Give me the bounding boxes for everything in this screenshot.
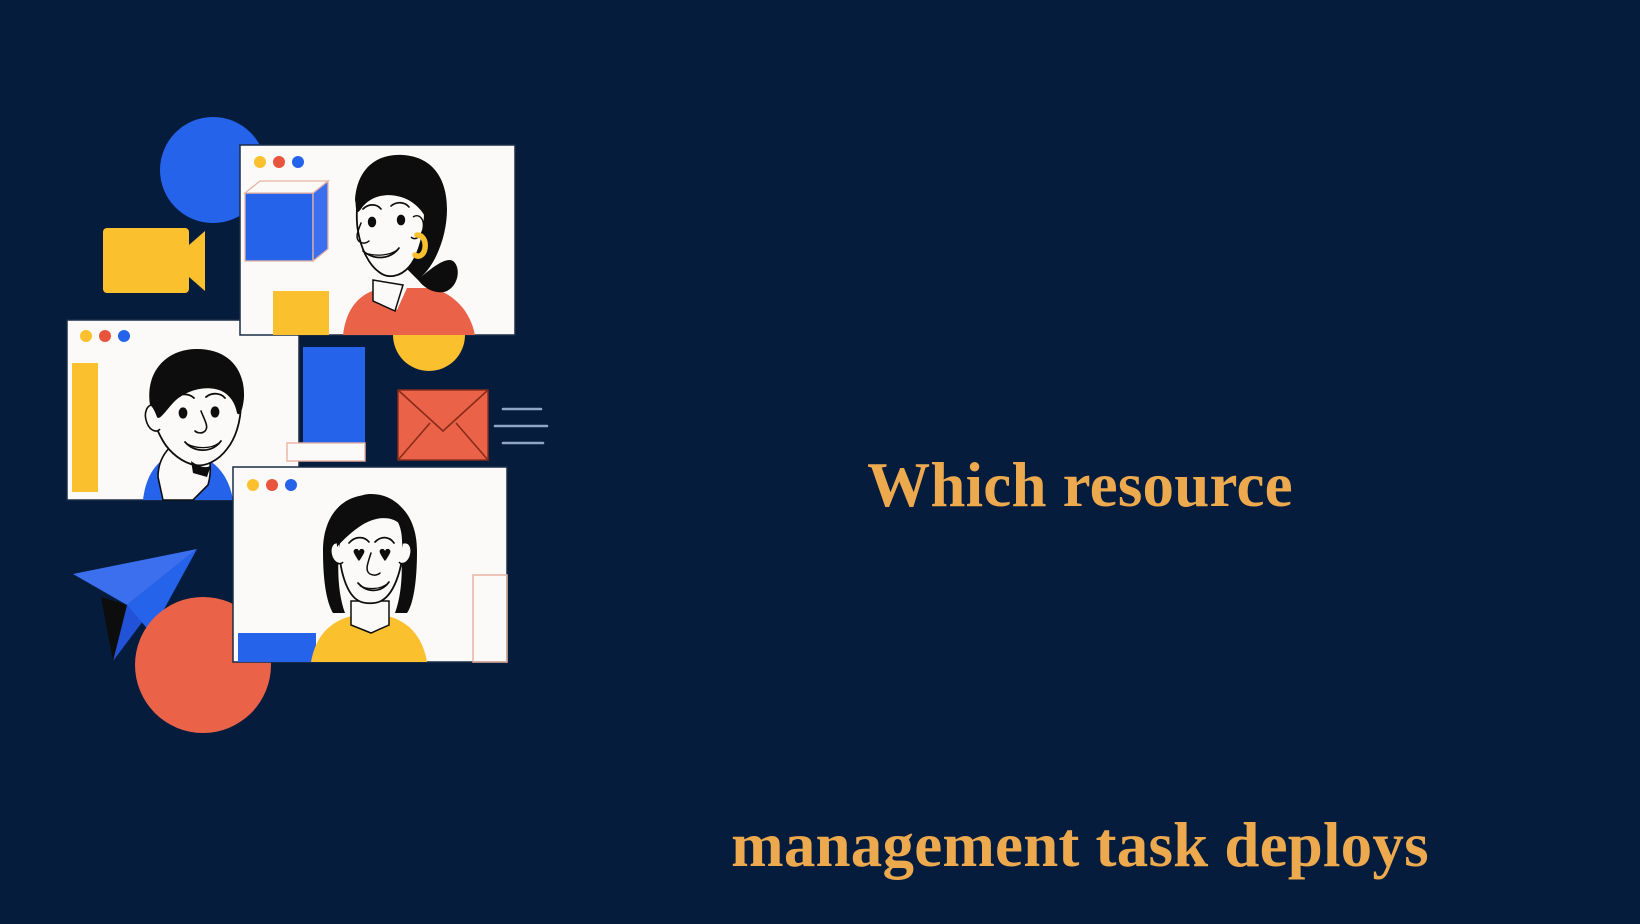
blue-box-3d — [245, 181, 328, 261]
yellow-half-circle — [393, 335, 465, 371]
window-dot-red — [266, 479, 278, 491]
video-window-woman-ponytail — [240, 145, 515, 335]
window-dot-yellow — [254, 156, 266, 168]
slide-canvas: Which resource management task deploys o… — [0, 0, 1640, 924]
pink-outline-shelf — [287, 443, 365, 461]
envelope-icon — [398, 390, 488, 460]
video-call-illustration — [55, 105, 575, 765]
window-dot-yellow — [247, 479, 259, 491]
page-title: Which resource management task deploys o… — [600, 185, 1560, 924]
blue-rectangle-mid — [303, 347, 365, 447]
window-dot-blue — [285, 479, 297, 491]
window-dot-yellow — [80, 330, 92, 342]
headline-line-1: Which resource — [600, 425, 1560, 545]
window-dot-blue — [118, 330, 130, 342]
headline-line-2: management task deploys — [600, 785, 1560, 905]
video-window-woman-bob — [233, 467, 507, 662]
video-camera-icon — [103, 228, 205, 293]
window-dot-blue — [292, 156, 304, 168]
window-dot-red — [99, 330, 111, 342]
yellow-bar — [72, 363, 98, 492]
window-dot-red — [273, 156, 285, 168]
blue-bar-bottom — [238, 633, 316, 662]
yellow-rectangle-low — [273, 291, 329, 335]
speed-lines — [495, 409, 547, 443]
